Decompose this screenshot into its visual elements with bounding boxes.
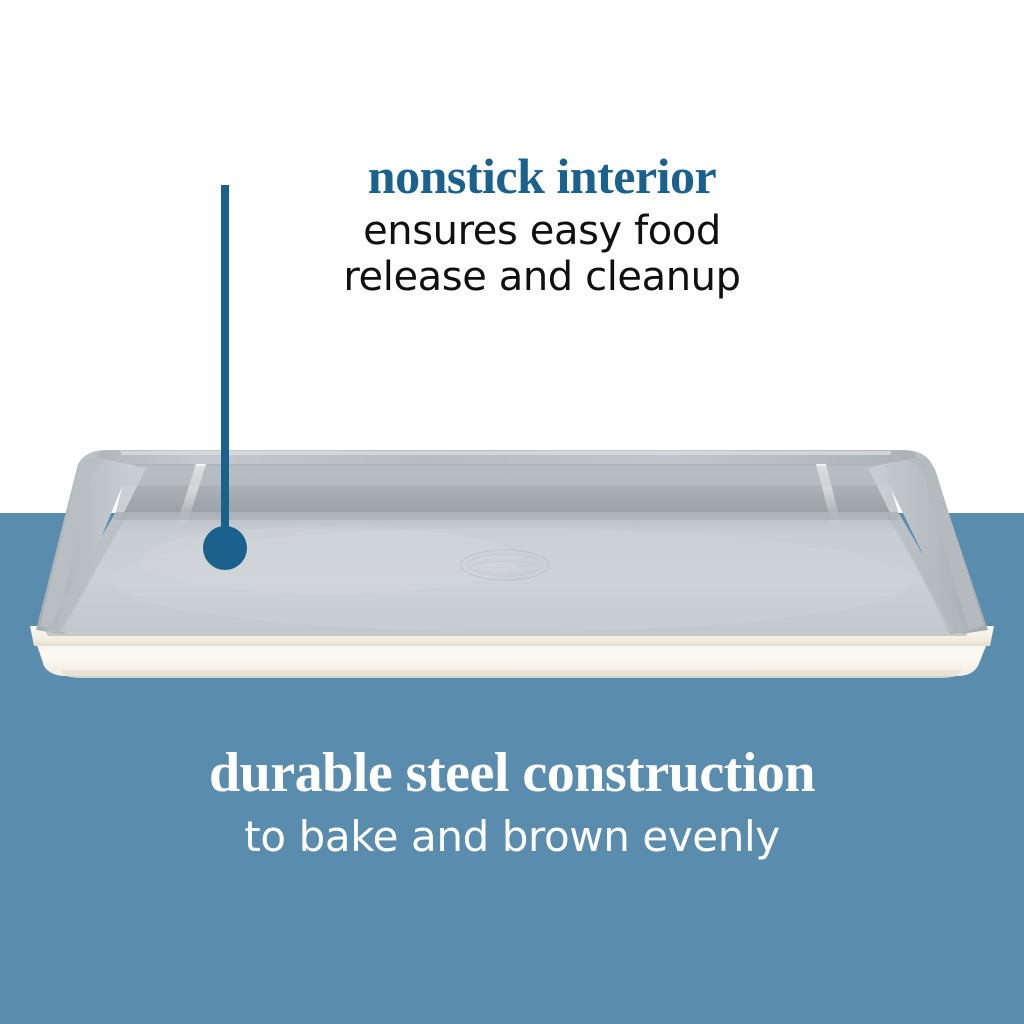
callout-subline-line-1: ensures easy food xyxy=(242,208,842,254)
callout-text-durable-steel-construction: durable steel construction to bake and b… xyxy=(0,742,1024,862)
product-feature-graphic: nonstick interior ensures easy food rele… xyxy=(0,0,1024,1024)
callout-subline-nonstick-interior: ensures easy food release and cleanup xyxy=(242,208,842,300)
callout-text-nonstick-interior: nonstick interior ensures easy food rele… xyxy=(242,148,842,300)
callout-headline-durable-steel: durable steel construction xyxy=(0,742,1024,804)
callout-leader-line xyxy=(221,185,229,550)
callout-subline-durable-steel: to bake and brown evenly xyxy=(0,812,1024,862)
product-image-baking-sheet xyxy=(0,420,1024,700)
callout-subline-line-2: release and cleanup xyxy=(242,254,842,300)
callout-dot-nonstick-interior xyxy=(203,526,247,570)
callout-headline-nonstick-interior: nonstick interior xyxy=(242,148,842,204)
